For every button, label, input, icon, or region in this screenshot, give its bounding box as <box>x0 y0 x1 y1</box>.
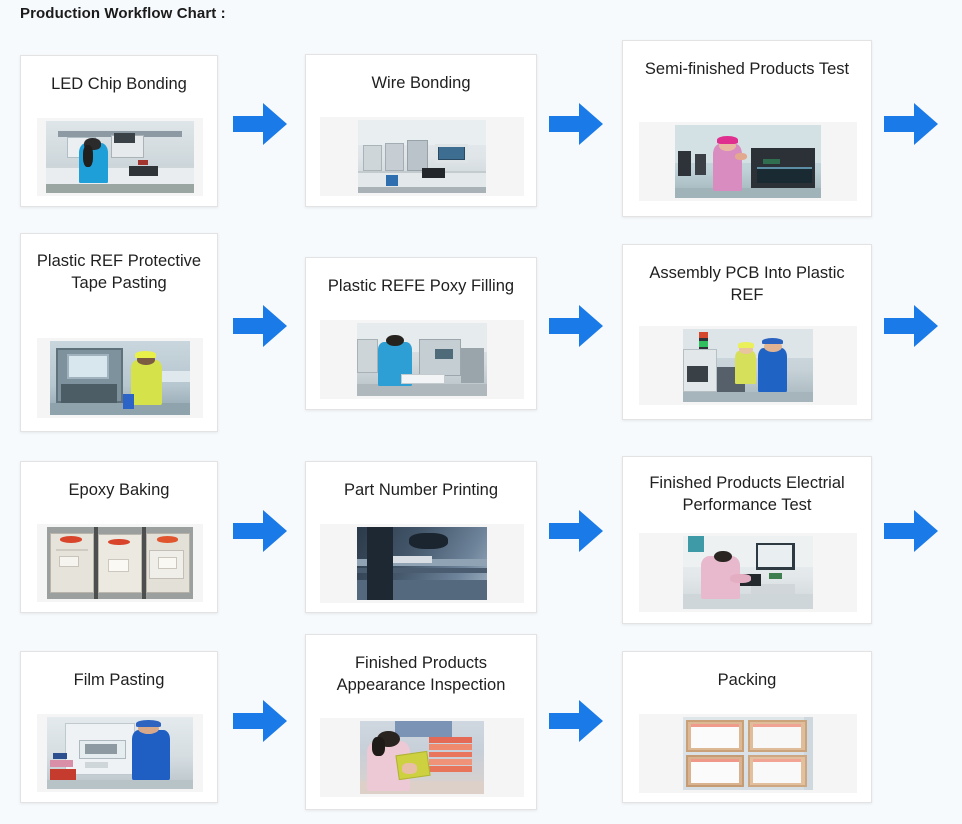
step-title: Wire Bonding <box>306 73 536 95</box>
workflow-arrow-10 <box>233 700 287 742</box>
workflow-arrow-7 <box>233 510 287 552</box>
step-photo-band <box>37 524 203 602</box>
step-photo <box>357 527 487 600</box>
workflow-step-card-2[interactable]: Wire Bonding <box>305 54 537 207</box>
workflow-arrow-9 <box>884 510 938 552</box>
workflow-arrow-11 <box>549 700 603 742</box>
step-title: Finished Products Electrial Performance … <box>623 473 871 517</box>
step-title: Semi-finished Products Test <box>623 59 871 81</box>
workflow-arrow-1 <box>233 103 287 145</box>
step-title: Plastic REF Protective Tape Pasting <box>21 251 217 295</box>
workflow-step-card-3[interactable]: Semi-finished Products Test <box>622 40 872 217</box>
step-photo-band <box>320 320 524 399</box>
step-photo-band <box>639 122 857 201</box>
step-title: Plastic REFE Poxy Filling <box>306 276 536 298</box>
step-title: Film Pasting <box>21 670 217 692</box>
step-photo <box>47 717 193 789</box>
workflow-step-card-4[interactable]: Plastic REF Protective Tape Pasting <box>20 233 218 432</box>
step-photo <box>675 125 821 198</box>
step-photo <box>683 329 813 402</box>
workflow-step-card-8[interactable]: Part Number Printing <box>305 461 537 613</box>
step-photo <box>360 721 484 794</box>
step-photo-band <box>639 326 857 405</box>
step-photo <box>683 717 813 790</box>
workflow-arrow-4 <box>233 305 287 347</box>
step-photo <box>357 323 487 396</box>
workflow-step-card-11[interactable]: Finished Products Appearance Inspection <box>305 634 537 810</box>
workflow-step-card-5[interactable]: Plastic REFE Poxy Filling <box>305 257 537 410</box>
production-workflow-chart: LED Chip Bonding Wire Bonding <box>0 0 962 824</box>
workflow-step-card-12[interactable]: Packing <box>622 651 872 803</box>
workflow-step-card-10[interactable]: Film Pasting <box>20 651 218 803</box>
step-title: Part Number Printing <box>306 480 536 502</box>
workflow-arrow-6 <box>884 305 938 347</box>
step-photo-band <box>639 533 857 612</box>
step-photo-band <box>37 714 203 792</box>
workflow-arrow-5 <box>549 305 603 347</box>
workflow-step-card-9[interactable]: Finished Products Electrial Performance … <box>622 456 872 624</box>
step-photo <box>358 120 486 193</box>
workflow-step-card-7[interactable]: Epoxy Baking <box>20 461 218 613</box>
step-photo-band <box>320 117 524 196</box>
step-photo-band <box>320 718 524 797</box>
workflow-arrow-3 <box>884 103 938 145</box>
step-photo-band <box>639 714 857 793</box>
step-title: Finished Products Appearance Inspection <box>306 653 536 697</box>
workflow-step-card-6[interactable]: Assembly PCB Into Plastic REF <box>622 244 872 420</box>
step-photo <box>47 527 193 599</box>
step-title: Packing <box>623 670 871 692</box>
step-title: Assembly PCB Into Plastic REF <box>623 263 871 307</box>
step-title: Epoxy Baking <box>21 480 217 502</box>
workflow-arrow-8 <box>549 510 603 552</box>
workflow-step-card-1[interactable]: LED Chip Bonding <box>20 55 218 207</box>
step-photo <box>683 536 813 609</box>
step-title: LED Chip Bonding <box>21 74 217 96</box>
step-photo-band <box>37 118 203 196</box>
step-photo-band <box>37 338 203 418</box>
step-photo <box>50 341 190 415</box>
step-photo <box>46 121 194 193</box>
step-photo-band <box>320 524 524 603</box>
workflow-arrow-2 <box>549 103 603 145</box>
